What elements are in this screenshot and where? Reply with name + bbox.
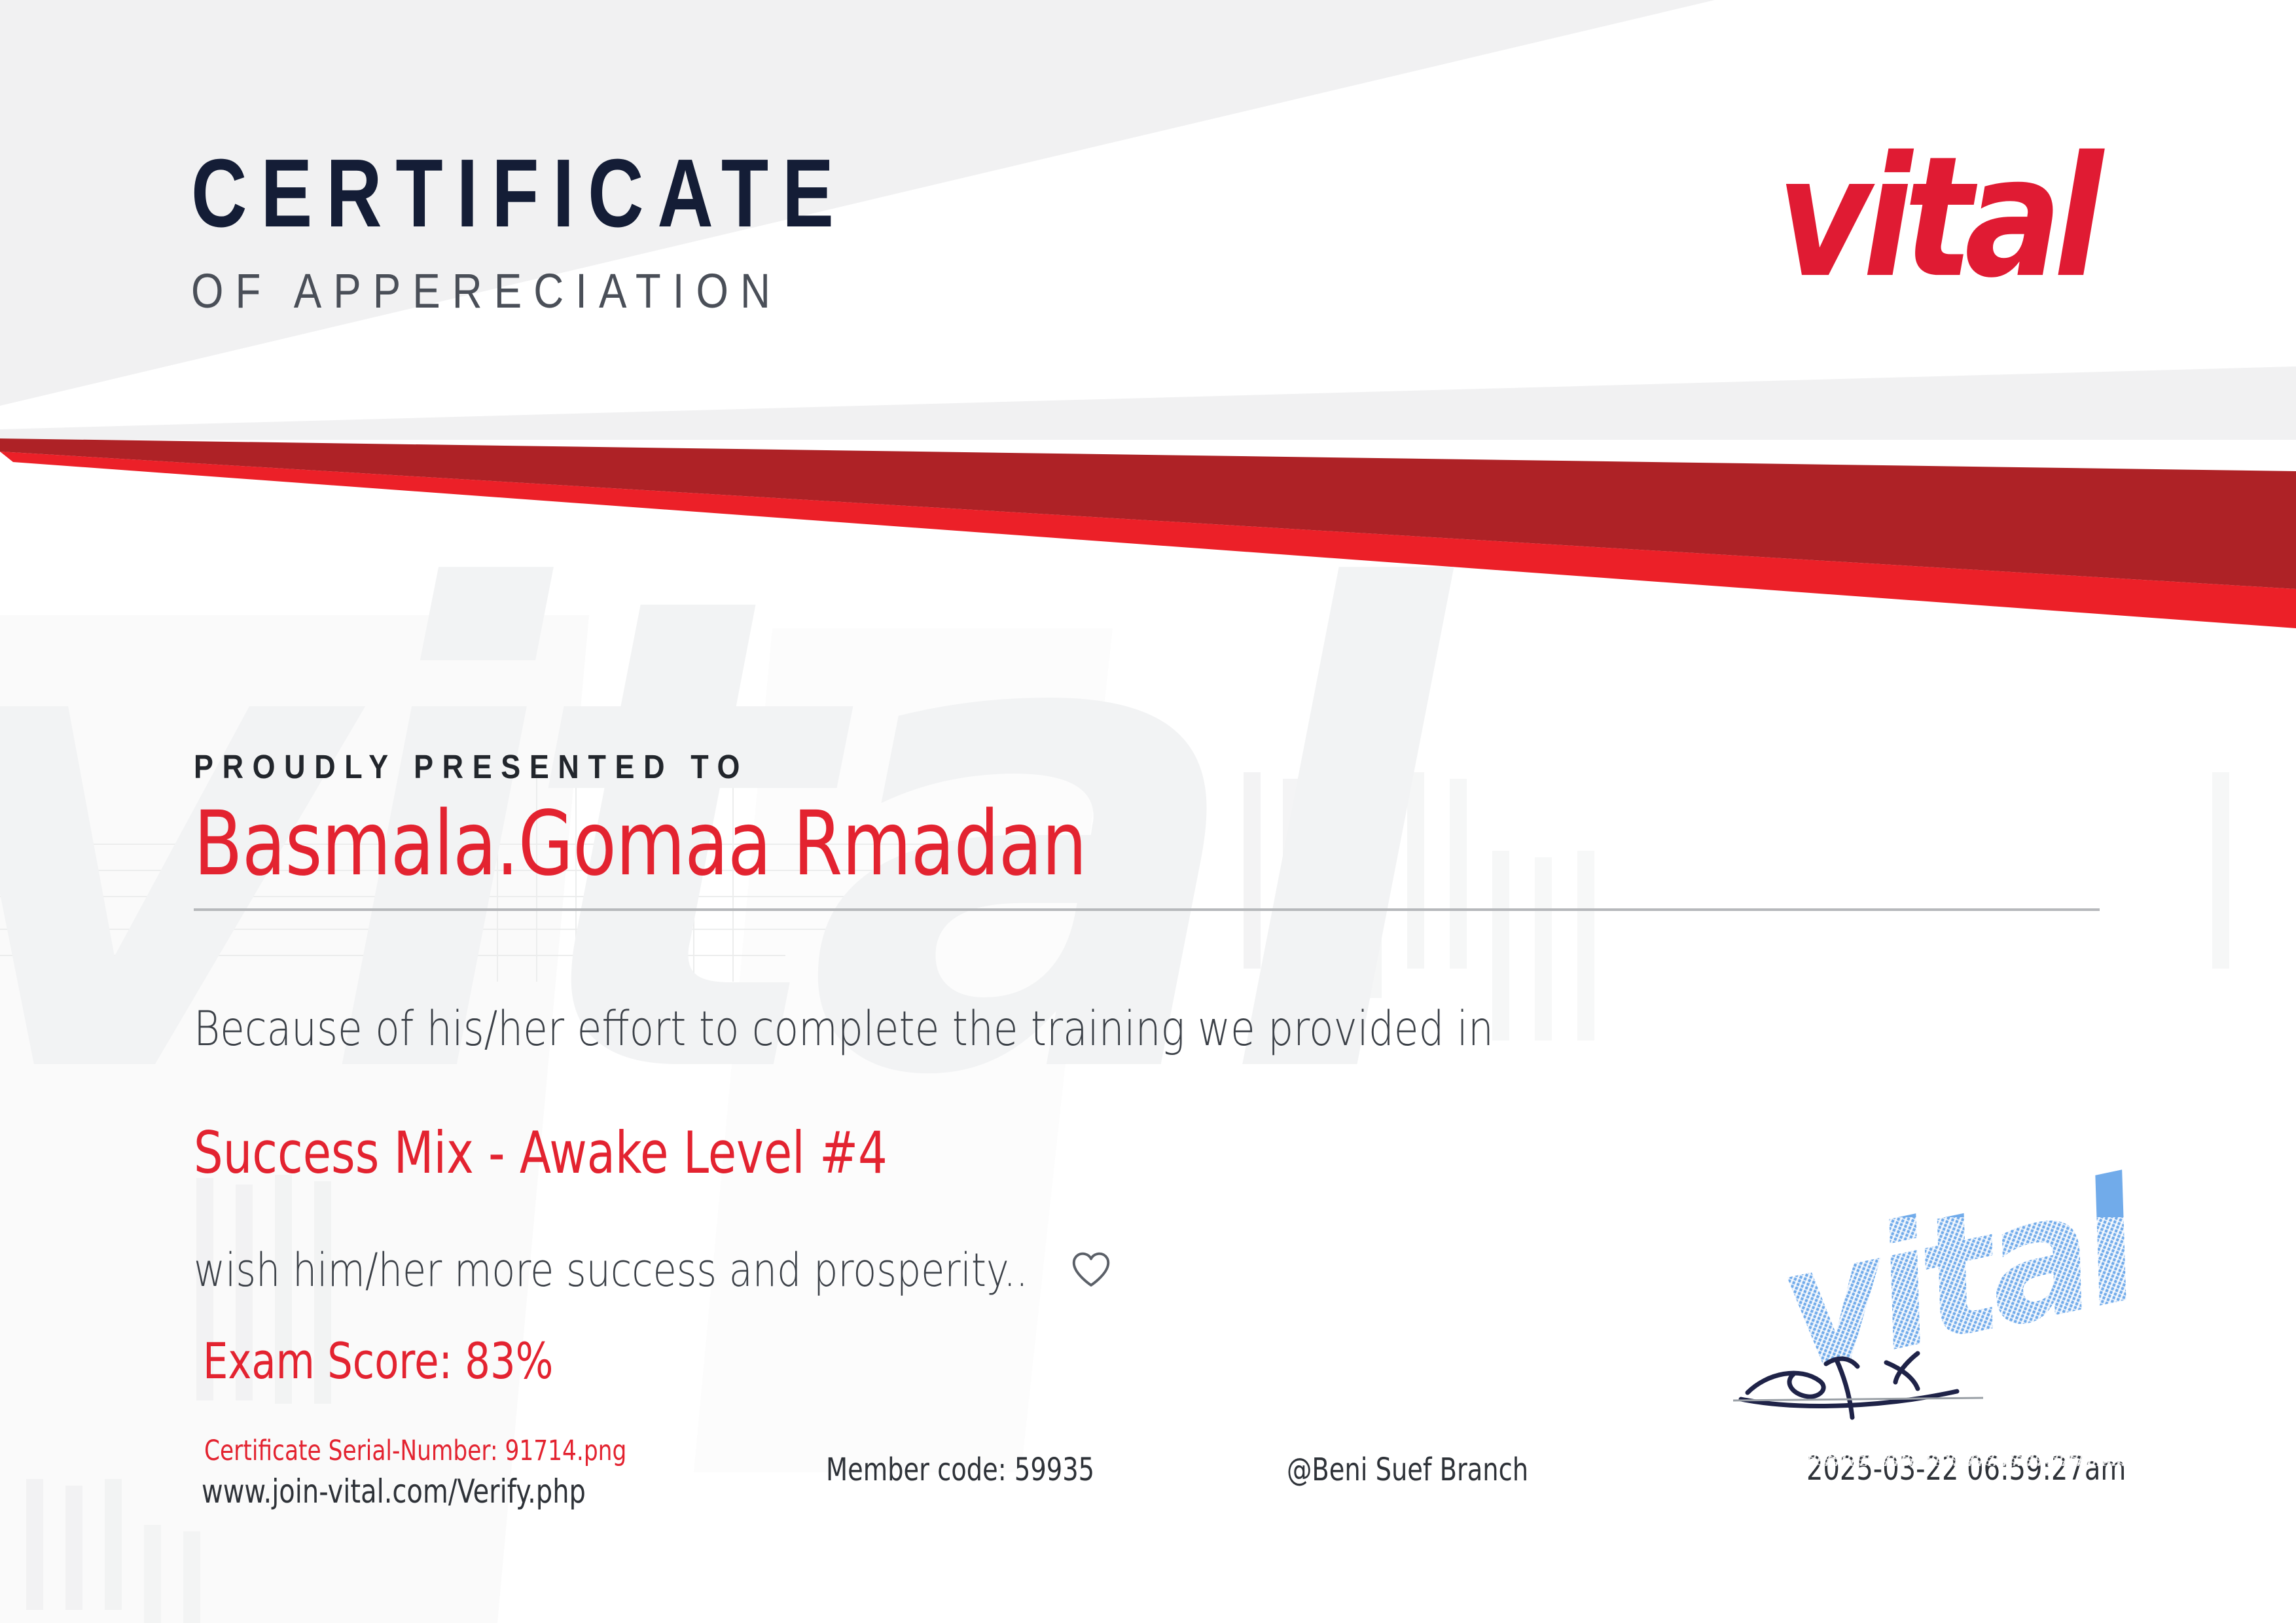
exam-score: Exam Score: 83% bbox=[203, 1332, 553, 1390]
vital-stamp-group: vital bbox=[1721, 1204, 2206, 1479]
stamp-texture-overlay bbox=[1748, 1217, 2179, 1466]
recipient-name: Basmala.Gomaa Rmadan bbox=[194, 793, 1086, 895]
banner-bright-red bbox=[0, 452, 2296, 628]
reason-line: Because of his/her effort to complete th… bbox=[194, 1001, 1494, 1057]
certificate-page: vital CERTIFICATE OF APPERECIATION vital… bbox=[0, 0, 2296, 1623]
heart-icon bbox=[1067, 1246, 1115, 1294]
recipient-name-underline bbox=[194, 908, 2100, 911]
page-subtitle: OF APPERECIATION bbox=[191, 267, 897, 315]
course-name: Success Mix - Awake Level #4 bbox=[194, 1119, 888, 1186]
vital-logo: vital bbox=[1777, 134, 2144, 285]
header-gray-wedge bbox=[0, 366, 2296, 440]
vital-logo-text: vital bbox=[1777, 134, 2114, 300]
member-code: Member code: 59935 bbox=[826, 1452, 1094, 1488]
vital-stamp-text: vital bbox=[1767, 1158, 2145, 1396]
page-title: CERTIFICATE bbox=[191, 145, 848, 242]
certificate-serial-number: Certificate Serial-Number: 91714.png bbox=[204, 1435, 626, 1467]
issue-timestamp: 2025-03-22 06:59:27am bbox=[1806, 1450, 2126, 1488]
wish-line-row: wish him/her more success and prosperity… bbox=[194, 1243, 1115, 1297]
branch-name: @Beni Suef Branch bbox=[1287, 1452, 1528, 1488]
verify-url[interactable]: www.join-vital.com/Verify.php bbox=[202, 1472, 586, 1510]
signature-icon bbox=[1721, 1283, 2062, 1440]
presented-to-label: PROUDLY PRESENTED TO bbox=[194, 747, 749, 786]
page-title-block: CERTIFICATE OF APPERECIATION bbox=[191, 145, 1011, 315]
banner-dark-red bbox=[0, 438, 2296, 589]
wish-line: wish him/her more success and prosperity… bbox=[194, 1243, 1028, 1297]
